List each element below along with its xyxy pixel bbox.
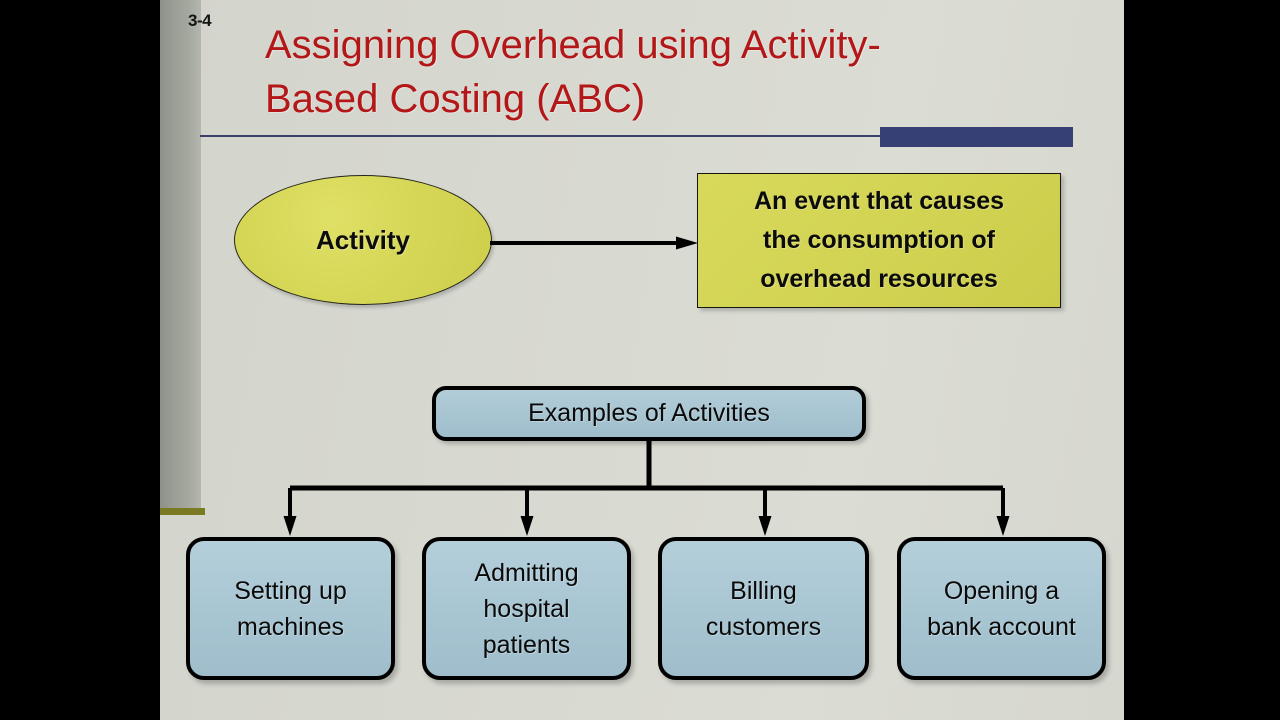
- example-box-line: Opening a: [944, 573, 1059, 609]
- example-box-line: customers: [706, 609, 821, 645]
- definition-line-3: overhead resources: [760, 260, 998, 299]
- example-box-line: Setting up: [234, 573, 347, 609]
- example-box-setting-up-machines: Setting up machines: [186, 537, 395, 680]
- activity-ellipse: Activity: [234, 175, 492, 305]
- definition-line-1: An event that causes: [754, 182, 1004, 221]
- example-box-line: machines: [237, 609, 344, 645]
- example-box-opening-a-bank-account: Opening a bank account: [897, 537, 1106, 680]
- arrow-activity-to-definition: [490, 236, 698, 250]
- activity-ellipse-label: Activity: [316, 225, 410, 256]
- examples-header-box: Examples of Activities: [432, 386, 866, 441]
- example-box-line: bank account: [927, 609, 1076, 645]
- presentation-slide: 3-4 Assigning Overhead using Activity- B…: [160, 0, 1124, 720]
- connector-tree: [160, 438, 1124, 538]
- letterbox-bar-right: [1124, 0, 1280, 720]
- example-box-billing-customers: Billing customers: [658, 537, 869, 680]
- example-box-line: patients: [483, 627, 571, 663]
- example-box-line: Billing: [730, 573, 797, 609]
- example-box-line: Admitting: [474, 555, 578, 591]
- slide-side-band: [160, 0, 201, 508]
- example-box-admitting-hospital-patients: Admitting hospital patients: [422, 537, 631, 680]
- slide-viewer: 3-4 Assigning Overhead using Activity- B…: [0, 0, 1280, 720]
- definition-box: An event that causes the consumption of …: [697, 173, 1061, 308]
- title-accent-block: [880, 127, 1073, 147]
- page-title-line-1: Assigning Overhead using Activity-: [265, 18, 1025, 72]
- definition-line-2: the consumption of: [763, 221, 995, 260]
- letterbox-bar-left: [0, 0, 160, 720]
- page-title-line-2: Based Costing (ABC): [265, 72, 1025, 126]
- page-title: Assigning Overhead using Activity- Based…: [265, 18, 1025, 126]
- examples-header-label: Examples of Activities: [528, 399, 770, 428]
- example-box-line: hospital: [483, 591, 569, 627]
- slide-number: 3-4: [188, 11, 211, 31]
